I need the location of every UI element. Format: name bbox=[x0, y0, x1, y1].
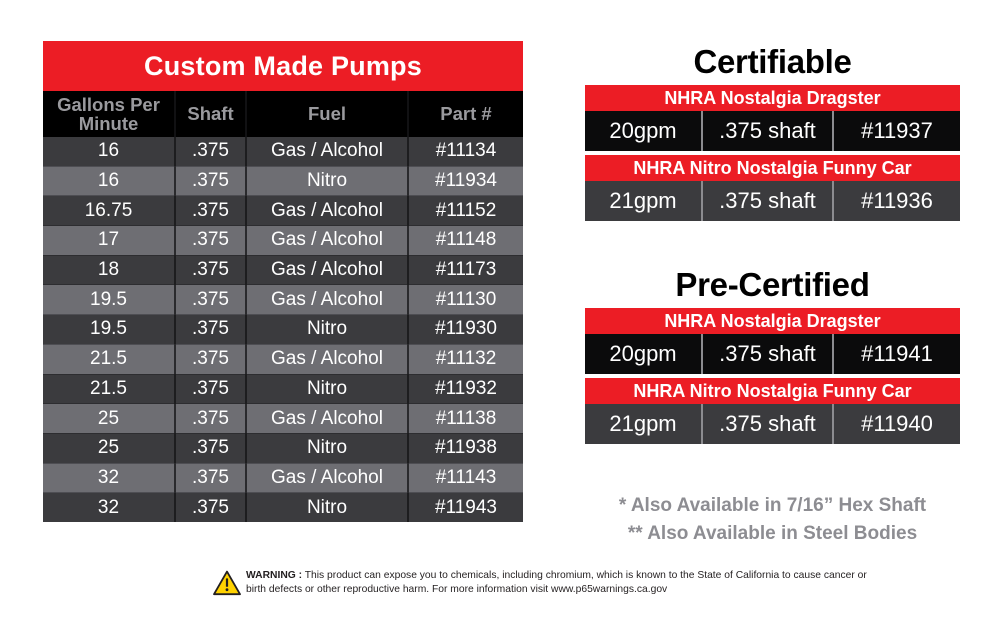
cell-part-number: #11938 bbox=[408, 433, 523, 463]
cell-part-number: #11934 bbox=[408, 166, 523, 196]
footnote-hex-shaft: * Also Available in 7/16” Hex Shaft bbox=[575, 492, 970, 520]
cell-shaft: .375 shaft bbox=[702, 404, 833, 444]
cell-part-number: #11138 bbox=[408, 404, 523, 434]
table-row: 21.5.375Gas / Alcohol#11132 bbox=[43, 344, 523, 374]
cell-part-number: #11132 bbox=[408, 344, 523, 374]
table-row: 21gpm.375 shaft#11940 bbox=[585, 404, 960, 444]
footnote-steel-bodies: ** Also Available in Steel Bodies bbox=[575, 520, 970, 548]
column-header-gallons-per-minute: Gallons Per Minute bbox=[43, 91, 175, 137]
category-label: NHRA Nostalgia Dragster bbox=[585, 308, 960, 334]
cell-fuel: Gas / Alcohol bbox=[246, 404, 408, 434]
cell-part-number: #11941 bbox=[833, 334, 960, 374]
precertified-section: Pre-Certified NHRA Nostalgia Dragster20g… bbox=[585, 268, 960, 444]
cell-shaft: .375 bbox=[175, 374, 246, 404]
cell-shaft: .375 bbox=[175, 463, 246, 493]
certifiable-section: Certifiable NHRA Nostalgia Dragster20gpm… bbox=[585, 45, 960, 221]
cell-gallons-per-minute: 32 bbox=[43, 463, 175, 493]
cell-part-number: #11143 bbox=[408, 463, 523, 493]
column-header-fuel: Fuel bbox=[246, 91, 408, 137]
table-row: 20gpm.375 shaft#11937 bbox=[585, 111, 960, 151]
cell-fuel: Nitro bbox=[246, 315, 408, 345]
pumps-title: Custom Made Pumps bbox=[43, 41, 523, 91]
cell-part-number: #11152 bbox=[408, 196, 523, 226]
cell-shaft: .375 shaft bbox=[702, 334, 833, 374]
cell-gallons-per-minute: 16.75 bbox=[43, 196, 175, 226]
certifiable-heading: Certifiable bbox=[585, 45, 960, 78]
table-row: 25.375Nitro#11938 bbox=[43, 433, 523, 463]
cell-fuel: Gas / Alcohol bbox=[246, 255, 408, 285]
cell-gallons-per-minute: 19.5 bbox=[43, 285, 175, 315]
cell-fuel: Gas / Alcohol bbox=[246, 226, 408, 256]
table-row: 16.75.375Gas / Alcohol#11152 bbox=[43, 196, 523, 226]
certifiable-table: NHRA Nostalgia Dragster20gpm.375 shaft#1… bbox=[585, 85, 960, 221]
table-row: 20gpm.375 shaft#11941 bbox=[585, 334, 960, 374]
cell-gallons-per-minute: 19.5 bbox=[43, 315, 175, 345]
category-row: NHRA Nitro Nostalgia Funny Car bbox=[585, 155, 960, 181]
cell-shaft: .375 bbox=[175, 493, 246, 522]
cell-fuel: Nitro bbox=[246, 433, 408, 463]
cell-gallons-per-minute: 16 bbox=[43, 166, 175, 196]
table-row: 17.375Gas / Alcohol#11148 bbox=[43, 226, 523, 256]
cell-shaft: .375 bbox=[175, 433, 246, 463]
table-row: 32.375Nitro#11943 bbox=[43, 493, 523, 522]
cell-shaft: .375 shaft bbox=[702, 111, 833, 151]
cell-part-number: #11930 bbox=[408, 315, 523, 345]
table-row: 19.5.375Nitro#11930 bbox=[43, 315, 523, 345]
cell-fuel: Gas / Alcohol bbox=[246, 344, 408, 374]
cell-fuel: Gas / Alcohol bbox=[246, 137, 408, 166]
category-label: NHRA Nostalgia Dragster bbox=[585, 85, 960, 111]
column-header-part-number: Part # bbox=[408, 91, 523, 137]
category-row: NHRA Nostalgia Dragster bbox=[585, 85, 960, 111]
category-label: NHRA Nitro Nostalgia Funny Car bbox=[585, 155, 960, 181]
pumps-header-row: Gallons Per Minute Shaft Fuel Part # bbox=[43, 91, 523, 137]
cell-part-number: #11940 bbox=[833, 404, 960, 444]
cell-gallons-per-minute: 18 bbox=[43, 255, 175, 285]
cell-part-number: #11936 bbox=[833, 181, 960, 221]
table-row: 21.5.375Nitro#11932 bbox=[43, 374, 523, 404]
pumps-title-row: Custom Made Pumps bbox=[43, 41, 523, 91]
table-row: 18.375Gas / Alcohol#11173 bbox=[43, 255, 523, 285]
cell-shaft: .375 shaft bbox=[702, 181, 833, 221]
cell-shaft: .375 bbox=[175, 255, 246, 285]
cell-gallons-per-minute: 20gpm bbox=[585, 111, 702, 151]
cell-fuel: Nitro bbox=[246, 493, 408, 522]
cell-part-number: #11134 bbox=[408, 137, 523, 166]
cell-shaft: .375 bbox=[175, 226, 246, 256]
cell-gallons-per-minute: 21gpm bbox=[585, 181, 702, 221]
cell-fuel: Gas / Alcohol bbox=[246, 196, 408, 226]
cell-part-number: #11173 bbox=[408, 255, 523, 285]
cell-part-number: #11148 bbox=[408, 226, 523, 256]
cell-shaft: .375 bbox=[175, 166, 246, 196]
warning-label: WARNING : bbox=[246, 570, 302, 581]
cell-fuel: Gas / Alcohol bbox=[246, 463, 408, 493]
precertified-table: NHRA Nostalgia Dragster20gpm.375 shaft#1… bbox=[585, 308, 960, 444]
cell-gallons-per-minute: 21gpm bbox=[585, 404, 702, 444]
cell-shaft: .375 bbox=[175, 315, 246, 345]
cell-gallons-per-minute: 32 bbox=[43, 493, 175, 522]
table-row: 32.375Gas / Alcohol#11143 bbox=[43, 463, 523, 493]
cell-shaft: .375 bbox=[175, 285, 246, 315]
cell-shaft: .375 bbox=[175, 196, 246, 226]
custom-made-pumps-table: Custom Made Pumps Gallons Per Minute Sha… bbox=[43, 41, 523, 522]
cell-gallons-per-minute: 20gpm bbox=[585, 334, 702, 374]
table-row: 21gpm.375 shaft#11936 bbox=[585, 181, 960, 221]
cell-part-number: #11932 bbox=[408, 374, 523, 404]
prop65-warning: WARNING : This product can expose you to… bbox=[213, 569, 873, 601]
table-row: 16.375Nitro#11934 bbox=[43, 166, 523, 196]
warning-body: This product can expose you to chemicals… bbox=[246, 570, 867, 595]
table-row: 25.375Gas / Alcohol#11138 bbox=[43, 404, 523, 434]
table-row: 16.375Gas / Alcohol#11134 bbox=[43, 137, 523, 166]
category-row: NHRA Nitro Nostalgia Funny Car bbox=[585, 378, 960, 404]
cell-fuel: Nitro bbox=[246, 166, 408, 196]
cell-gallons-per-minute: 16 bbox=[43, 137, 175, 166]
category-row: NHRA Nostalgia Dragster bbox=[585, 308, 960, 334]
cell-gallons-per-minute: 17 bbox=[43, 226, 175, 256]
cell-gallons-per-minute: 21.5 bbox=[43, 344, 175, 374]
cell-part-number: #11943 bbox=[408, 493, 523, 522]
precertified-heading: Pre-Certified bbox=[585, 268, 960, 301]
cell-gallons-per-minute: 21.5 bbox=[43, 374, 175, 404]
cell-gallons-per-minute: 25 bbox=[43, 433, 175, 463]
cell-shaft: .375 bbox=[175, 344, 246, 374]
cell-fuel: Nitro bbox=[246, 374, 408, 404]
footnotes: * Also Available in 7/16” Hex Shaft ** A… bbox=[575, 492, 970, 547]
category-label: NHRA Nitro Nostalgia Funny Car bbox=[585, 378, 960, 404]
cell-part-number: #11130 bbox=[408, 285, 523, 315]
cell-part-number: #11937 bbox=[833, 111, 960, 151]
cell-shaft: .375 bbox=[175, 404, 246, 434]
cell-gallons-per-minute: 25 bbox=[43, 404, 175, 434]
cell-fuel: Gas / Alcohol bbox=[246, 285, 408, 315]
table-row: 19.5.375Gas / Alcohol#11130 bbox=[43, 285, 523, 315]
warning-triangle-icon bbox=[213, 570, 241, 601]
column-header-shaft: Shaft bbox=[175, 91, 246, 137]
cell-shaft: .375 bbox=[175, 137, 246, 166]
warning-text: WARNING : This product can expose you to… bbox=[246, 569, 873, 596]
